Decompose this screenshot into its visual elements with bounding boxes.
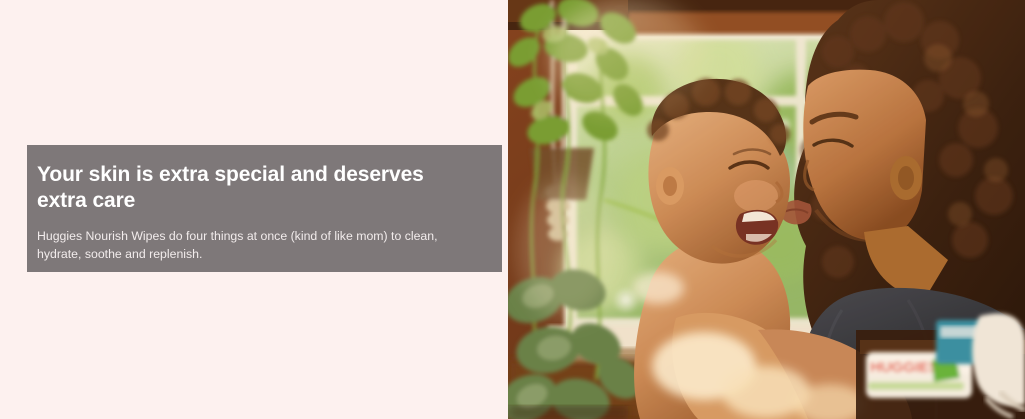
banner-headline: Your skin is extra special and deserves … xyxy=(37,162,467,214)
banner-text-pane: Your skin is extra special and deserves … xyxy=(0,0,508,419)
copy-card: Your skin is extra special and deserves … xyxy=(27,145,502,272)
promo-banner: Your skin is extra special and deserves … xyxy=(0,0,1025,419)
mother-kissing-baby-photo: HUGGIES xyxy=(508,0,1025,419)
banner-body-text: Huggies Nourish Wipes do four things at … xyxy=(37,227,470,263)
banner-photo: HUGGIES xyxy=(508,0,1025,419)
